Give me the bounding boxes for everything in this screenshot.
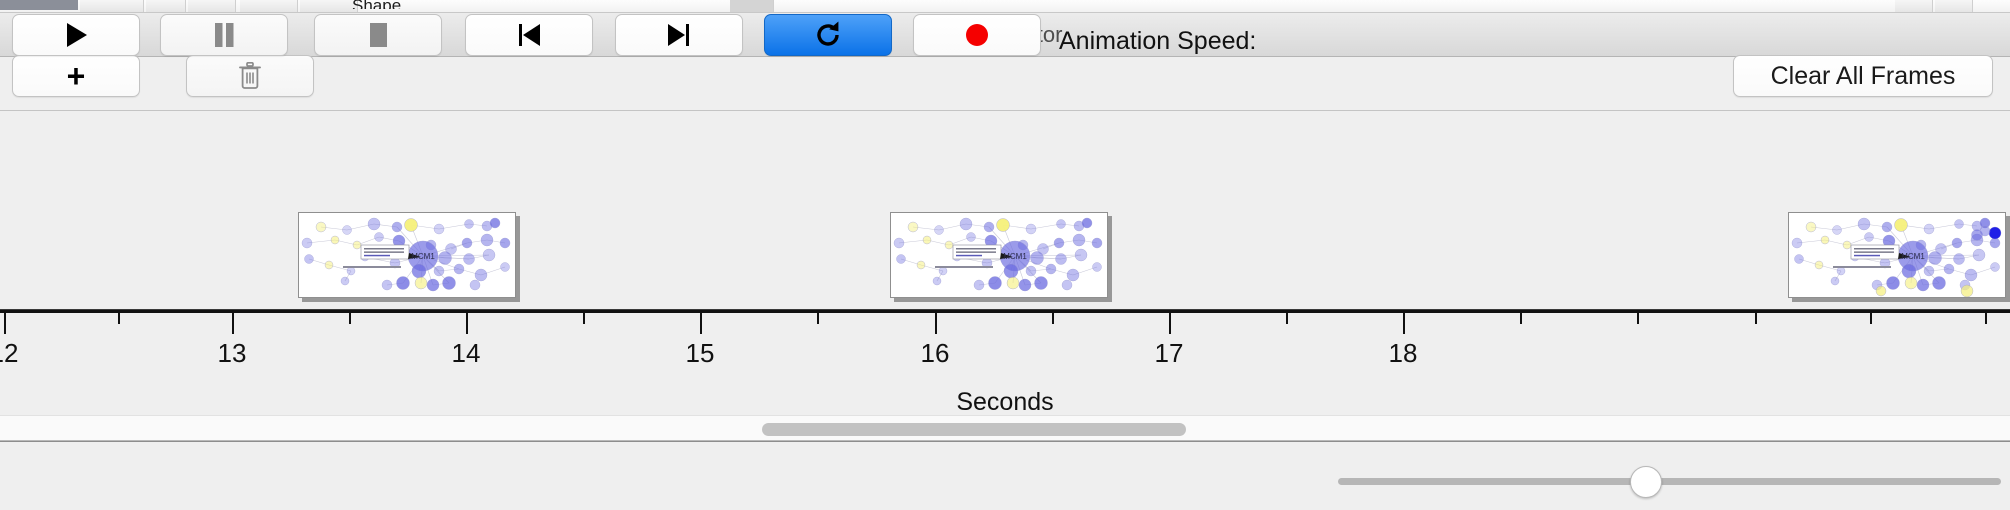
animation-speed-label: Animation Speed: bbox=[1059, 27, 1256, 56]
axis-tick-major bbox=[700, 313, 702, 334]
axis-tick-minor bbox=[118, 313, 120, 324]
add-frame-button[interactable]: + bbox=[12, 55, 140, 97]
timeline-frame[interactable]: MCM1 bbox=[1788, 212, 2006, 298]
network-graph-thumbnail: MCM1 bbox=[891, 213, 1107, 297]
skip-previous-button[interactable] bbox=[465, 14, 593, 56]
axis-tick-major bbox=[1403, 313, 1405, 334]
axis-tick-major bbox=[466, 313, 468, 334]
record-button[interactable] bbox=[913, 14, 1041, 56]
axis-tick-major bbox=[4, 313, 6, 334]
playback-control-bar bbox=[0, 441, 2010, 510]
network-graph-thumbnail: MCM1 bbox=[299, 213, 515, 297]
plus-icon: + bbox=[67, 60, 86, 92]
skip-next-button[interactable] bbox=[615, 14, 743, 56]
axis-tick-minor bbox=[1637, 313, 1639, 324]
background-chip bbox=[300, 0, 358, 13]
background-chip bbox=[1935, 0, 1973, 13]
animation-speed-slider-handle[interactable] bbox=[1630, 466, 1662, 498]
timeline-frame[interactable]: MCM1 bbox=[890, 212, 1108, 298]
clear-all-frames-button[interactable]: Clear All Frames bbox=[1733, 55, 1993, 97]
svg-text:MCM1: MCM1 bbox=[1003, 252, 1027, 261]
timeline-frame[interactable]: MCM1 bbox=[298, 212, 516, 298]
network-graph-thumbnail: MCM1 bbox=[1789, 213, 2005, 297]
axis-tick-minor bbox=[1755, 313, 1757, 324]
cyanimator-window: Shape CyAnimator + Clear All Frames MCM1… bbox=[0, 0, 2010, 510]
axis-tick-label: 18 bbox=[1389, 338, 1418, 369]
axis-tick-major bbox=[935, 313, 937, 334]
background-chip bbox=[1895, 0, 1933, 13]
axis-line bbox=[0, 310, 2010, 313]
axis-tick-label: 12 bbox=[0, 338, 18, 369]
axis-tick-minor bbox=[349, 313, 351, 324]
background-window-strip: Shape bbox=[0, 0, 2010, 13]
skip-next-icon bbox=[665, 21, 693, 49]
background-chip bbox=[188, 0, 236, 13]
svg-text:MCM1: MCM1 bbox=[1901, 252, 1925, 261]
background-chip bbox=[730, 0, 774, 13]
stop-icon bbox=[365, 21, 391, 49]
axis-tick-label: 15 bbox=[686, 338, 715, 369]
timeline-scrollbar-thumb[interactable] bbox=[762, 423, 1186, 436]
background-chip bbox=[80, 0, 144, 13]
background-window-label: Shape bbox=[352, 0, 401, 9]
axis-tick-major bbox=[232, 313, 234, 334]
record-icon bbox=[963, 21, 991, 49]
play-button[interactable] bbox=[12, 14, 140, 56]
skip-previous-icon bbox=[515, 21, 543, 49]
background-chip bbox=[240, 0, 298, 13]
axis-title: Seconds bbox=[0, 388, 2010, 417]
axis-tick-major bbox=[1169, 313, 1171, 334]
axis-tick-minor bbox=[1286, 313, 1288, 324]
background-chip bbox=[146, 0, 186, 13]
pause-button[interactable] bbox=[160, 14, 288, 56]
axis-tick-label: 16 bbox=[921, 338, 950, 369]
axis-tick-minor bbox=[1052, 313, 1054, 324]
loop-button[interactable] bbox=[764, 14, 892, 56]
timeline-axis: 12131415161718 Seconds bbox=[0, 310, 2010, 415]
timeline-scrollbar[interactable] bbox=[0, 415, 2010, 441]
loop-icon bbox=[813, 20, 843, 50]
trash-icon bbox=[238, 62, 262, 90]
axis-tick-label: 13 bbox=[218, 338, 247, 369]
pause-icon bbox=[211, 21, 237, 49]
axis-tick-label: 14 bbox=[452, 338, 481, 369]
animation-speed-slider-track[interactable] bbox=[1338, 478, 2001, 485]
play-icon bbox=[63, 21, 89, 49]
axis-tick-minor bbox=[1985, 313, 1987, 324]
background-window-titlebar bbox=[0, 0, 78, 10]
axis-tick-minor bbox=[1520, 313, 1522, 324]
stop-button[interactable] bbox=[314, 14, 442, 56]
clear-all-frames-label: Clear All Frames bbox=[1771, 62, 1956, 91]
svg-text:MCM1: MCM1 bbox=[411, 252, 435, 261]
axis-tick-label: 17 bbox=[1155, 338, 1184, 369]
axis-tick-minor bbox=[817, 313, 819, 324]
delete-frame-button[interactable] bbox=[186, 55, 314, 97]
axis-tick-minor bbox=[583, 313, 585, 324]
axis-tick-minor bbox=[1870, 313, 1872, 324]
